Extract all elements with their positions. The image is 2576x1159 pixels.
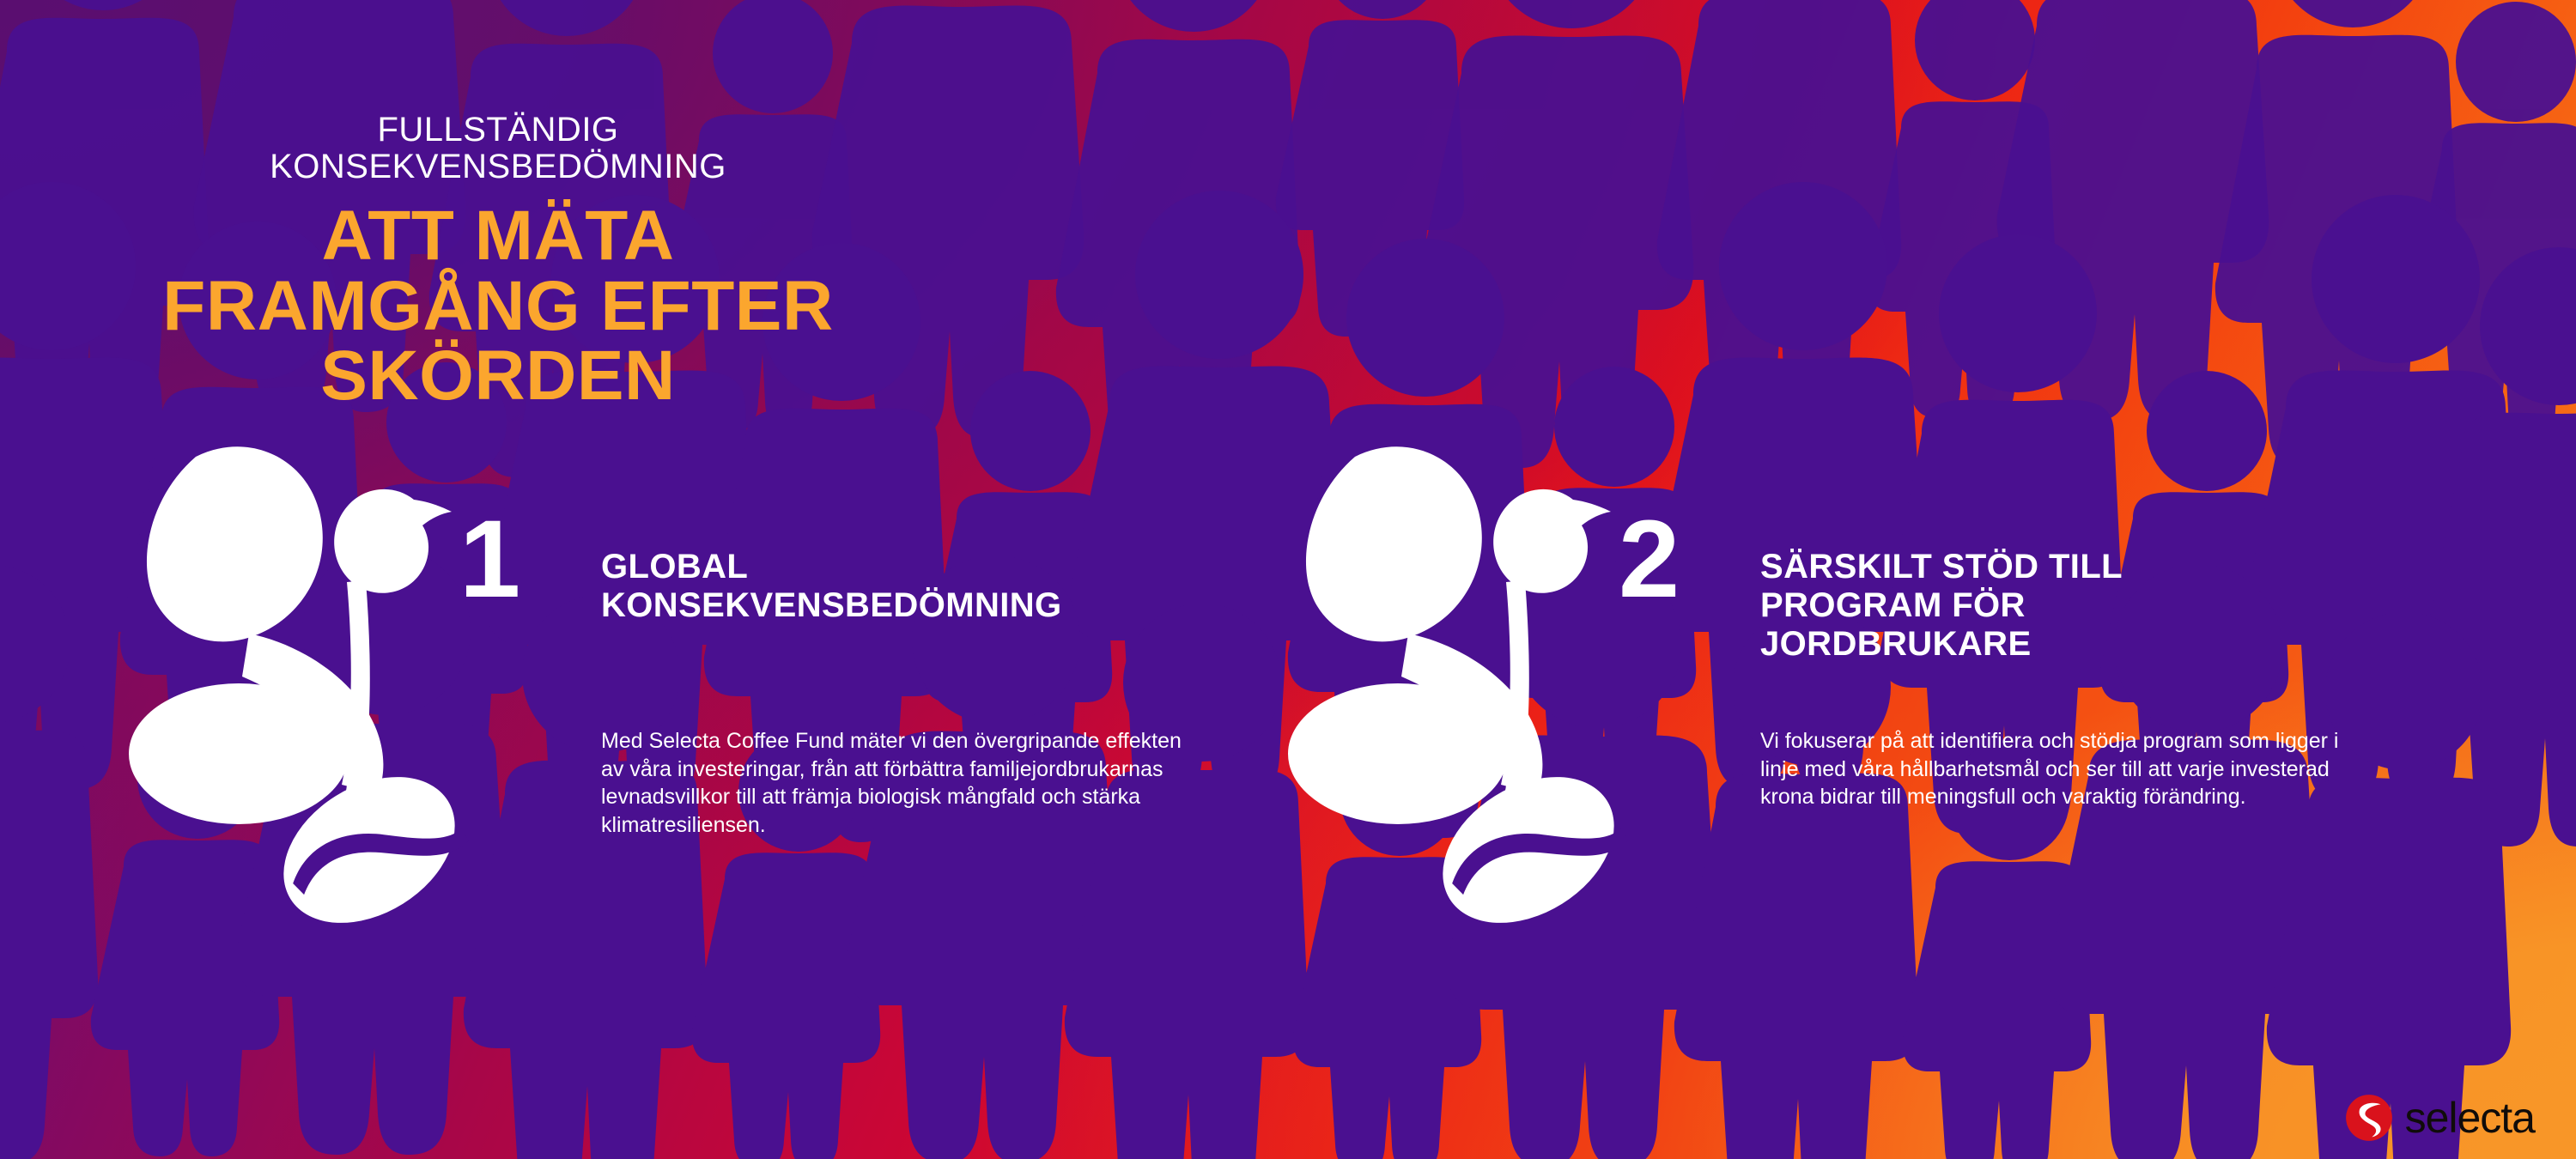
section-heading-2: SÄRSKILT STÖD TILL PROGRAM FÖR JORDBRUKA… bbox=[1760, 548, 2439, 663]
section-heading-1: GLOBAL KONSEKVENSBEDÖMNING bbox=[601, 548, 1279, 625]
section-heading-2-line-1: SÄRSKILT STÖD TILL bbox=[1760, 548, 2439, 586]
section-heading-1-line-2: KONSEKVENSBEDÖMNING bbox=[601, 586, 1279, 625]
section-body-2: Vi fokuserar på att identifiera och stöd… bbox=[1760, 727, 2361, 811]
section-number-2: 2 bbox=[1619, 505, 1678, 615]
section-body-1: Med Selecta Coffee Fund mäter vi den öve… bbox=[601, 727, 1202, 839]
section-dedicated-farmer-support: 2 SÄRSKILT STÖD TILL PROGRAM FÖR JORDBRU… bbox=[1288, 0, 2447, 1159]
poster-canvas: FULLSTÄNDIG KONSEKVENSBEDÖMNING ATT MÄTA… bbox=[0, 0, 2576, 1159]
section-number-1: 1 bbox=[459, 505, 519, 615]
section-heading-1-line-1: GLOBAL bbox=[601, 548, 1279, 586]
section-heading-2-line-2: PROGRAM FÖR bbox=[1760, 586, 2439, 625]
selecta-logo: selecta bbox=[2345, 1094, 2535, 1142]
selecta-wordmark: selecta bbox=[2405, 1096, 2535, 1139]
section-global-impact-assessment: 1 GLOBAL KONSEKVENSBEDÖMNING Med Selecta… bbox=[129, 0, 1288, 1159]
section-heading-2-line-3: JORDBRUKARE bbox=[1760, 625, 2439, 664]
content-layer: FULLSTÄNDIG KONSEKVENSBEDÖMNING ATT MÄTA… bbox=[0, 0, 2576, 1159]
selecta-swoosh-icon bbox=[2345, 1094, 2393, 1142]
